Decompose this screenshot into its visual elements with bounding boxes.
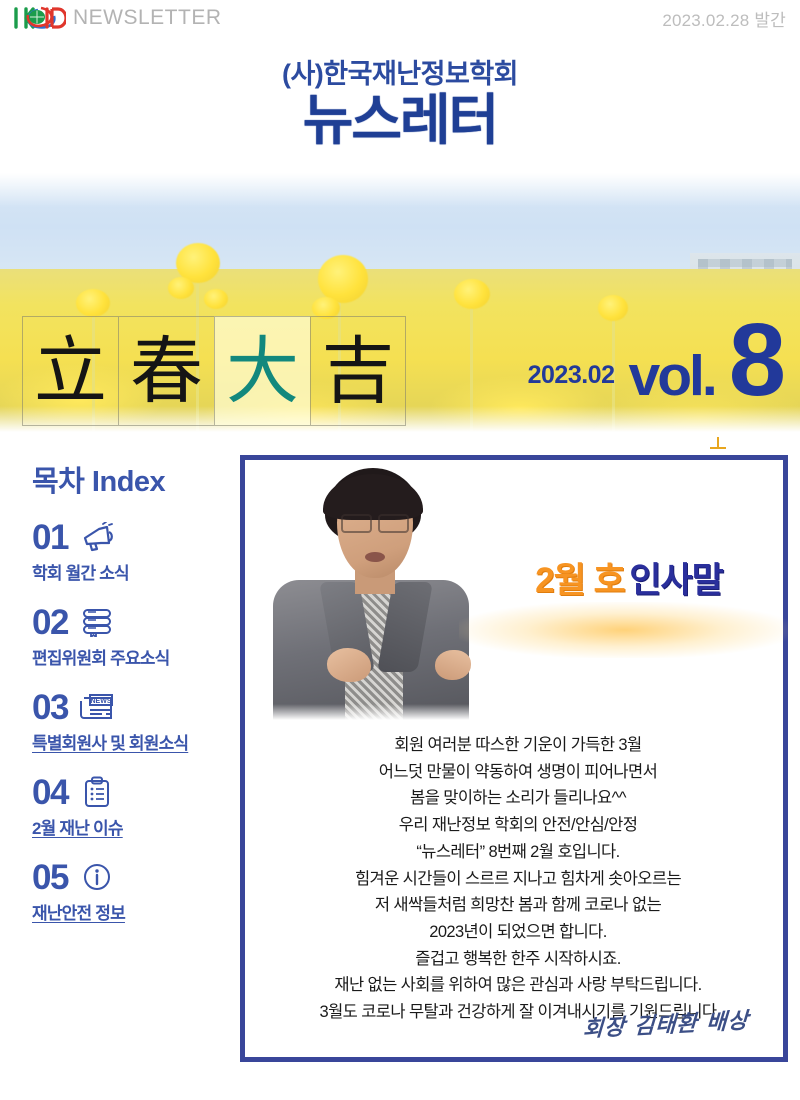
calligraphy-cell: 立	[22, 316, 118, 426]
calligraphy-grid: 立 春 大 吉	[22, 316, 406, 426]
index-item-03[interactable]: 03 NEWS 특별회원사 및 회원소식	[32, 686, 238, 754]
index-title: 목차 Index	[32, 458, 238, 500]
brand-wordmark: NEWSLETTER	[73, 6, 222, 30]
president-portrait	[267, 462, 473, 720]
index-label: 재난안전 정보	[32, 899, 238, 924]
volume-word: vol.	[629, 352, 715, 400]
index-item-02[interactable]: 02 편집위원회 주요소식	[32, 601, 238, 669]
index-sidebar: 목차 Index 01 학회 월간 소식 02	[0, 448, 238, 1088]
calligraphy-cell: 春	[118, 316, 214, 426]
crop-mark	[710, 437, 726, 451]
greeting-header: 2월 호 인사말	[245, 460, 783, 715]
index-item-01[interactable]: 01 학회 월간 소식	[32, 516, 238, 584]
masthead-title: 뉴스레터	[303, 92, 497, 149]
megaphone-icon	[77, 520, 117, 554]
greeting-line: 힘겨운 시간들이 스르르 지나고 힘차게 솟아오르는	[259, 866, 777, 893]
issue-date: 2023.02.28 발간	[662, 6, 786, 31]
volume-block: 2023.02 vol. 8	[528, 320, 782, 400]
calligraphy-cell-accent: 大	[214, 316, 310, 426]
greeting-line: 봄을 맞이하는 소리가 들리나요^^	[259, 785, 777, 812]
index-item-04[interactable]: 04 2월 재난 이슈	[32, 771, 238, 839]
greeting-line: 회원 여러분 따스한 기운이 가득한 3월	[259, 732, 777, 759]
clipboard-icon	[77, 775, 117, 809]
index-label: 학회 월간 소식	[32, 559, 238, 584]
masthead: (사)한국재난정보학회 뉴스레터	[0, 36, 800, 173]
index-item-05[interactable]: 05 재난안전 정보	[32, 856, 238, 924]
greeting-line: 저 새싹들처럼 희망찬 봄과 함께 코로나 없는	[259, 892, 777, 919]
index-number: 01	[32, 520, 68, 555]
svg-text:NEWS: NEWS	[90, 698, 111, 705]
masthead-subtitle: (사)한국재난정보학회	[282, 60, 518, 90]
info-circle-icon	[77, 860, 117, 894]
index-number: 04	[32, 775, 68, 810]
top-bar: NEWSLETTER 2023.02.28 발간	[0, 0, 800, 36]
calligraphy-cell: 吉	[310, 316, 406, 426]
greeting-title-word: 인사말	[629, 561, 723, 600]
volume-date: 2023.02	[528, 361, 615, 390]
brand-logo: NEWSLETTER	[14, 5, 222, 31]
kosdi-globe-logo	[14, 5, 66, 31]
index-label: 편집위원회 주요소식	[32, 644, 238, 669]
title-glow	[459, 602, 789, 658]
greeting-line: 우리 재난정보 학회의 안전/안심/안정	[259, 812, 777, 839]
hero-banner: 立 春 大 吉 2023.02 vol. 8	[0, 173, 800, 432]
books-icon	[77, 605, 117, 639]
index-label: 2월 재난 이슈	[32, 814, 238, 839]
greeting-line: “뉴스레터” 8번째 2월 호입니다.	[259, 839, 777, 866]
index-number: 03	[32, 690, 68, 725]
index-number: 02	[32, 605, 68, 640]
greeting-line: 어느덧 만물이 약동하여 생명이 피어나면서	[259, 759, 777, 786]
greeting-line: 재난 없는 사회를 위하여 많은 관심과 사랑 부탁드립니다.	[259, 972, 777, 999]
greeting-box: 2월 호 인사말 회원 여러분 따스한 기운이 가득한 3월 어느덧 만물이 약…	[240, 455, 788, 1062]
greeting-title-month: 2월 호	[535, 561, 625, 600]
index-number: 05	[32, 860, 68, 895]
volume-number: 8	[729, 320, 782, 400]
hero-top-fade	[0, 173, 800, 207]
greeting-line: 즐겁고 행복한 한주 시작하시죠.	[259, 946, 777, 973]
newspaper-icon: NEWS	[77, 690, 117, 724]
index-label: 특별회원사 및 회원소식	[32, 729, 238, 754]
greeting-body: 회원 여러분 따스한 기운이 가득한 3월 어느덧 만물이 약동하여 생명이 피…	[259, 732, 777, 1026]
greeting-line: 2023년이 되었으면 합니다.	[259, 919, 777, 946]
greeting-title: 2월 호 인사말	[473, 552, 785, 603]
